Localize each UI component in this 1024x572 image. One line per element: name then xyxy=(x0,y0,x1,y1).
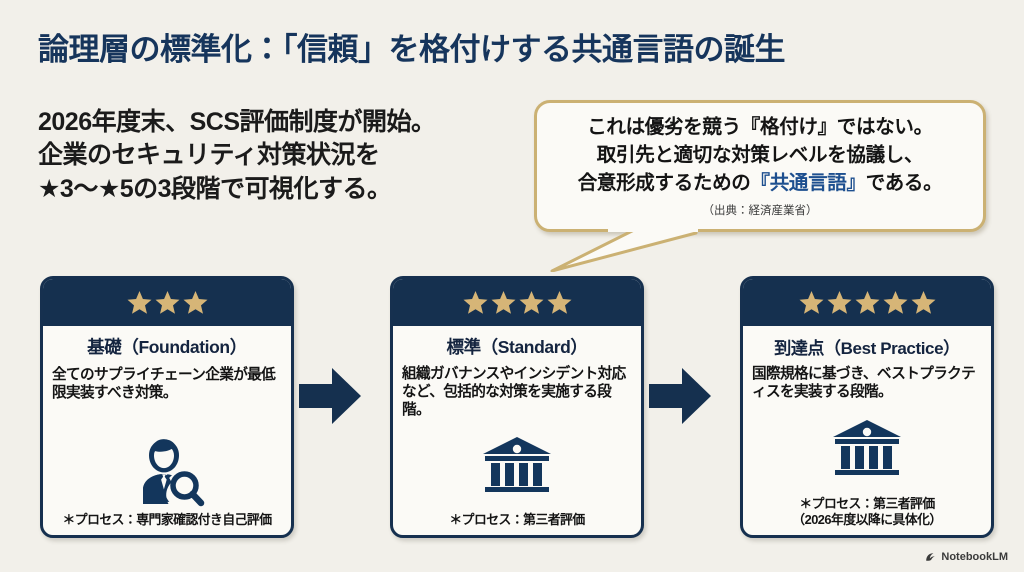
card-1-body: 基礎（Foundation） 全てのサプライチェーン企業が最低限実装すべき対策。 xyxy=(43,326,291,535)
card-2-description: 組織ガバナンスやインシデント対応など、包括的な対策を実施する段階。 xyxy=(402,365,632,420)
subtitle-line-1: 2026年度末、SCS評価制度が開始。 xyxy=(38,106,508,139)
card-2-note-line-1: ＊プロセス：第三者評価 xyxy=(449,512,584,527)
callout-line-2: 取引先と適切な対策レベルを協議し、 xyxy=(597,142,923,170)
callout-line-3: 合意形成するための『共通言語』である。 xyxy=(578,170,943,198)
card-2-title: 標準（Standard） xyxy=(446,334,587,359)
card-3-description: 国際規格に基づき、ベストプラクティスを実装する段階。 xyxy=(752,365,982,401)
card-3-note-line-1: ＊プロセス：第三者評価 xyxy=(792,496,941,511)
star-icon xyxy=(883,290,908,315)
callout-line-3-post: である。 xyxy=(866,172,943,194)
star-icon xyxy=(155,290,180,315)
callout-source: （出典：経済産業省） xyxy=(703,202,818,218)
star-icon xyxy=(911,290,936,315)
card-3-title: 到達点（Best Practice） xyxy=(774,334,960,359)
card-3-icon-slot xyxy=(752,401,982,496)
watermark-label: NotebookLM xyxy=(941,551,1008,563)
subtitle-block: 2026年度末、SCS評価制度が開始。 企業のセキュリティ対策状況を ★3〜★5… xyxy=(38,106,508,206)
star-icon xyxy=(463,290,488,315)
star-icon xyxy=(799,290,824,315)
card-2-process-note: ＊プロセス：第三者評価 xyxy=(449,512,584,529)
callout-highlight: 『共通言語』 xyxy=(751,172,866,194)
star-icon xyxy=(183,290,208,315)
card-1-star-row xyxy=(43,279,291,326)
star-icon xyxy=(519,290,544,315)
arrow-right-icon-1 xyxy=(299,366,361,426)
notebooklm-logo-icon xyxy=(925,551,937,563)
callout-bubble: これは優劣を競う『格付け』ではない。 取引先と適切な対策レベルを協議し、 合意形… xyxy=(534,100,986,232)
star-icon xyxy=(547,290,572,315)
star-icon xyxy=(127,290,152,315)
star-icon xyxy=(827,290,852,315)
bank-icon xyxy=(481,435,553,497)
card-2-star-row xyxy=(393,279,641,326)
card-1-title: 基礎（Foundation） xyxy=(87,334,247,359)
arrow-right-icon-2 xyxy=(649,366,711,426)
subtitle-line-2: 企業のセキュリティ対策状況を xyxy=(38,139,508,172)
person-magnifier-icon xyxy=(128,436,206,508)
callout-tail-icon xyxy=(548,228,698,272)
card-2-body: 標準（Standard） 組織ガバナンスやインシデント対応など、包括的な対策を実… xyxy=(393,326,641,535)
page-title: 論理層の標準化：「信頼」を格付けする共通言語の誕生 xyxy=(38,24,988,69)
card-3-body: 到達点（Best Practice） 国際規格に基づき、ベストプラクティスを実装… xyxy=(743,326,991,535)
card-2-icon-slot xyxy=(402,420,632,512)
callout-line-1: これは優劣を競う『格付け』ではない。 xyxy=(587,114,933,142)
card-3-note-line-2: （2026年度以降に具体化） xyxy=(792,512,941,527)
card-1-icon-slot xyxy=(52,402,282,511)
card-1-process-note: ＊プロセス：専門家確認付き自己評価 xyxy=(62,512,271,529)
card-3-star-row xyxy=(743,279,991,326)
slide-canvas: 論理層の標準化：「信頼」を格付けする共通言語の誕生 2026年度末、SCS評価制… xyxy=(0,0,1024,572)
level-card-best-practice[interactable]: 到達点（Best Practice） 国際規格に基づき、ベストプラクティスを実装… xyxy=(740,276,994,538)
callout-line-3-pre: 合意形成するための xyxy=(578,172,751,194)
subtitle-line-3: ★3〜★5の3段階で可視化する。 xyxy=(38,173,508,206)
card-1-note-line-1: ＊プロセス：専門家確認付き自己評価 xyxy=(62,512,271,527)
card-1-description: 全てのサプライチェーン企業が最低限実装すべき対策。 xyxy=(52,366,282,402)
watermark: NotebookLM xyxy=(925,551,1008,563)
star-icon xyxy=(491,290,516,315)
star-icon xyxy=(855,290,880,315)
level-card-standard[interactable]: 標準（Standard） 組織ガバナンスやインシデント対応など、包括的な対策を実… xyxy=(390,276,644,538)
card-3-process-note: ＊プロセス：第三者評価 （2026年度以降に具体化） xyxy=(792,496,941,529)
level-card-foundation[interactable]: 基礎（Foundation） 全てのサプライチェーン企業が最低限実装すべき対策。 xyxy=(40,276,294,538)
bank-icon xyxy=(831,418,903,480)
